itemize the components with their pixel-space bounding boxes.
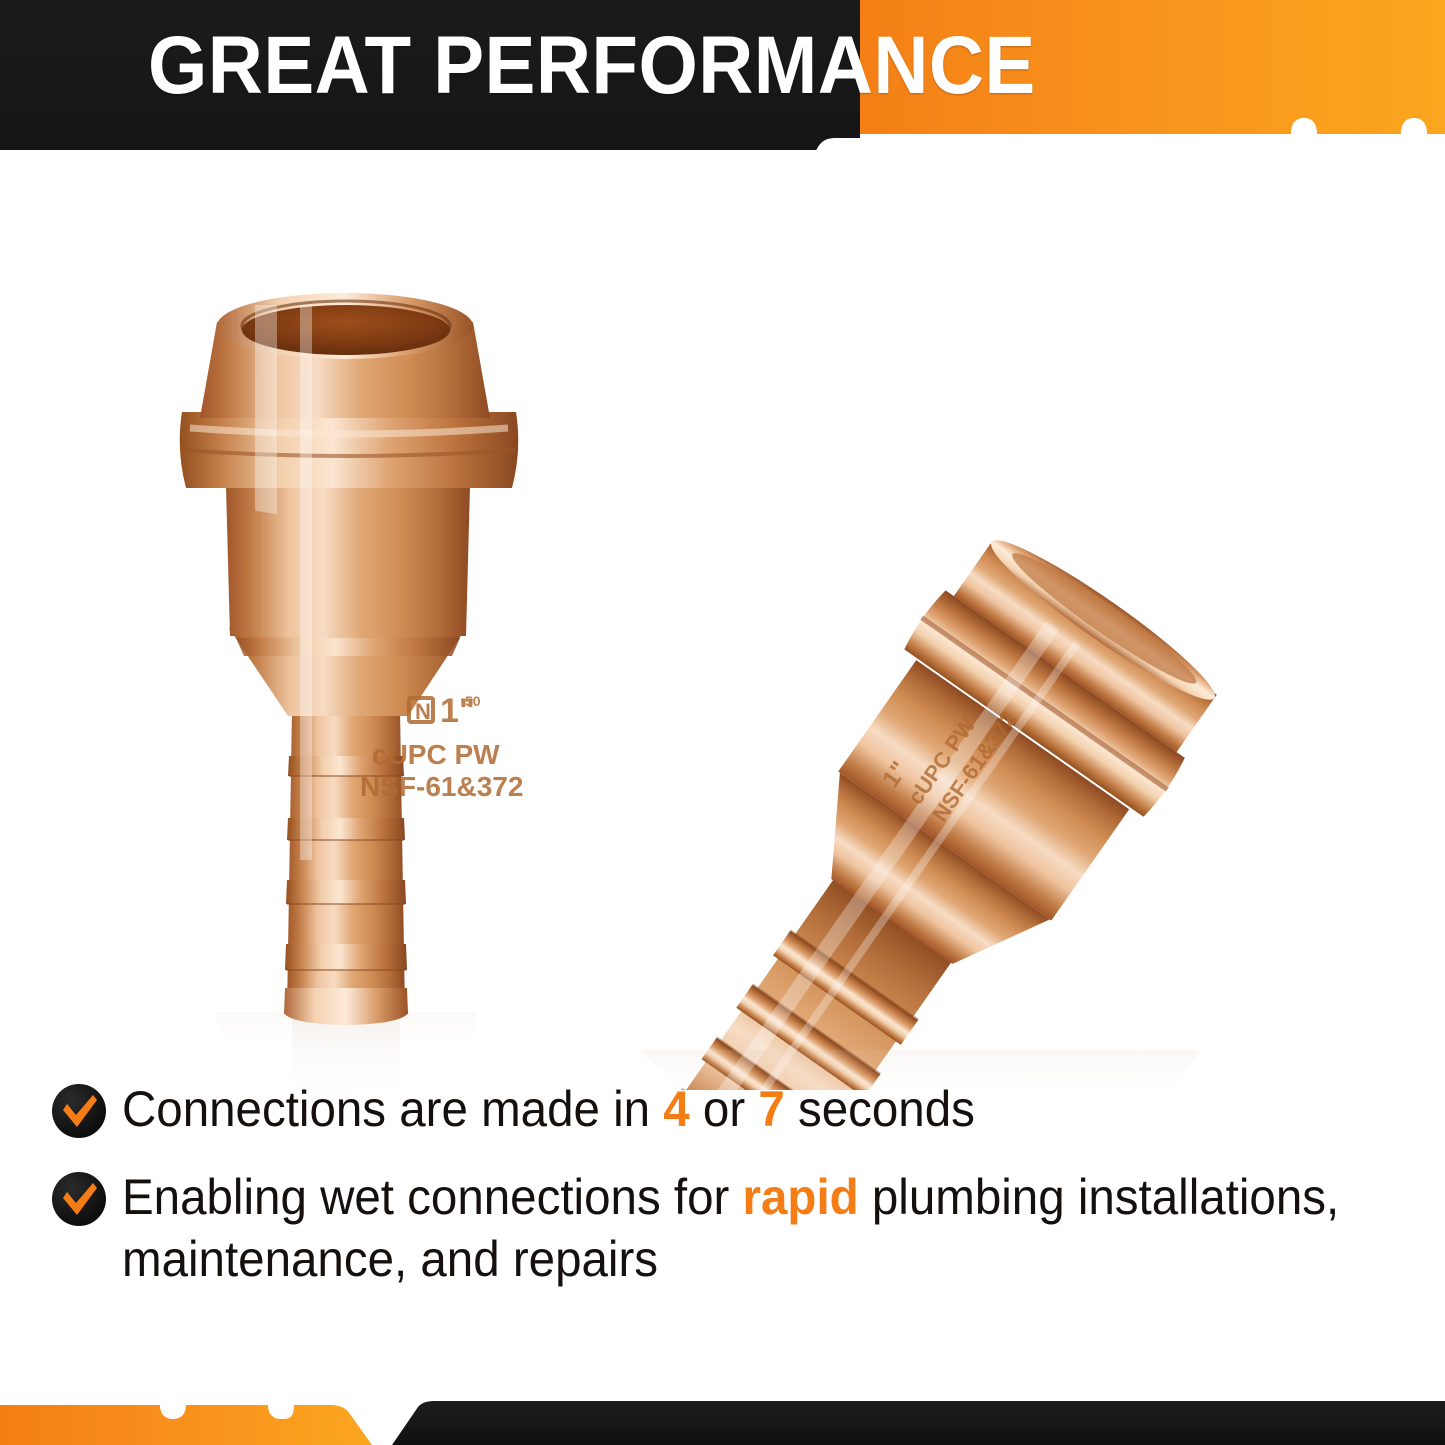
bullet-1-part-2: or bbox=[690, 1081, 759, 1137]
product-stage: N 1" 50 cUPC PW NSF-61&372 bbox=[0, 150, 1445, 1090]
header-band: GREAT PERFORMANCE bbox=[0, 0, 1445, 150]
footer-orange-panel bbox=[0, 1405, 372, 1445]
footer-black-panel bbox=[392, 1401, 1445, 1445]
shoulder-ring-upright bbox=[236, 638, 460, 656]
barb-end-face-upright bbox=[284, 999, 408, 1025]
bullet-2-part-0: Enabling wet connections for bbox=[122, 1169, 743, 1225]
fitting-upright: N 1" 50 cUPC PW NSF-61&372 bbox=[180, 293, 524, 1090]
check-badge-icon bbox=[52, 1084, 106, 1138]
page-title-text: GREAT PERFORMANCE bbox=[148, 20, 1036, 111]
list-item: Connections are made in 4 or 7 seconds bbox=[0, 1078, 1445, 1140]
footer-shapes bbox=[0, 1383, 1445, 1445]
marketing-infographic: GREAT PERFORMANCE bbox=[0, 0, 1445, 1445]
bullet-1-highlight-4: 4 bbox=[663, 1081, 689, 1137]
bullet-1-part-4: seconds bbox=[785, 1081, 975, 1137]
list-item-text: Connections are made in 4 or 7 seconds bbox=[122, 1078, 975, 1140]
list-item-text: Enabling wet connections for rapid plumb… bbox=[122, 1166, 1379, 1290]
fitting-tilted: 1" cUPC PW NSF-61&372 bbox=[588, 518, 1238, 1090]
check-badge-icon bbox=[52, 1172, 106, 1226]
bullet-1-part-0: Connections are made in bbox=[122, 1081, 663, 1137]
page-title: GREAT PERFORMANCE bbox=[148, 18, 1036, 114]
footer-band bbox=[0, 1383, 1445, 1445]
bullet-2-highlight-rapid: rapid bbox=[743, 1169, 859, 1225]
bullet-1-highlight-7: 7 bbox=[758, 1081, 784, 1137]
press-bead-upright bbox=[180, 412, 519, 488]
product-illustration: N 1" 50 cUPC PW NSF-61&372 bbox=[0, 150, 1445, 1090]
feature-list: Connections are made in 4 or 7 seconds E… bbox=[0, 1078, 1445, 1316]
brand-logo-glyph: N bbox=[415, 699, 431, 724]
list-item: Enabling wet connections for rapid plumb… bbox=[0, 1166, 1445, 1290]
stamp-nsf: NSF-61&372 bbox=[360, 771, 523, 802]
stamp-cupc: cUPC PW bbox=[372, 739, 500, 770]
stamp-superscript: 50 bbox=[465, 693, 481, 709]
